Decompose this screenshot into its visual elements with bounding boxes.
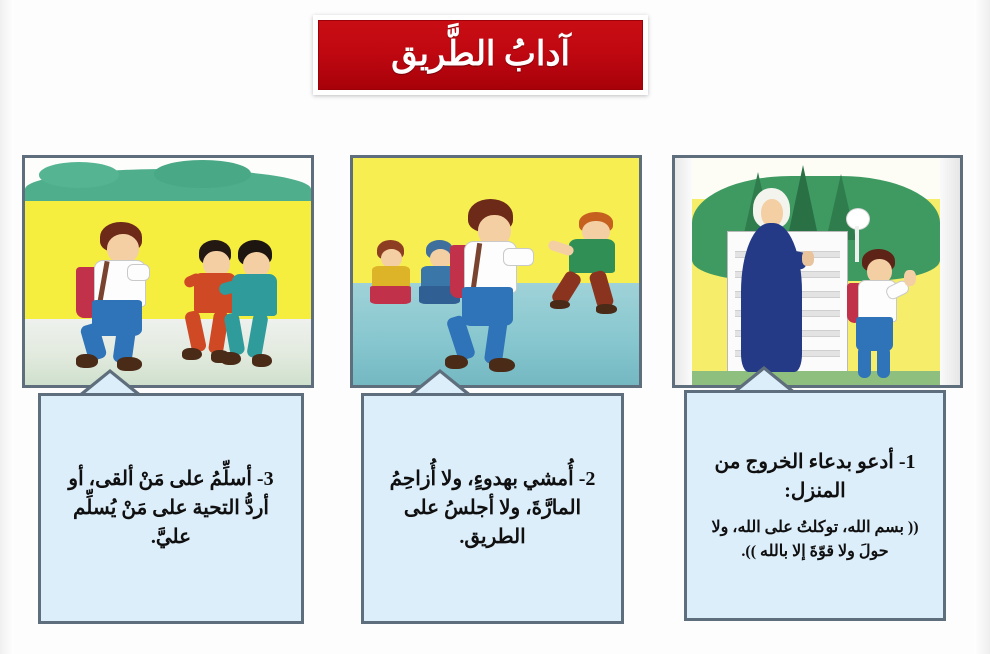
scene-greeting bbox=[25, 158, 311, 385]
panel-3-callout: 3- أسلِّمُ على مَنْ ألقى، أو أردُّ التحي… bbox=[38, 393, 304, 624]
dress bbox=[741, 223, 803, 372]
leg-right bbox=[877, 346, 890, 378]
figure-boy-teal bbox=[219, 240, 296, 372]
panel-1-image bbox=[672, 155, 963, 388]
panel-1-callout: 1- أدعو بدعاء الخروج من المنزل: (( بسم ا… bbox=[684, 390, 946, 621]
arm bbox=[127, 264, 150, 281]
scene-walking-calmly bbox=[353, 158, 639, 385]
page-edge-right bbox=[974, 0, 990, 654]
leg-back bbox=[184, 310, 207, 353]
shoe-back bbox=[76, 354, 99, 367]
figure-running-boy bbox=[545, 212, 631, 321]
shirt bbox=[569, 239, 615, 274]
panel-3-text: 3- أسلِّمُ على مَنْ ألقى، أو أردُّ التحي… bbox=[55, 465, 287, 552]
shoe-front bbox=[489, 358, 514, 372]
figure-boy-with-bag bbox=[74, 219, 177, 369]
panel-3-text-block: 3- أسلِّمُ على مَنْ ألقى، أو أردُّ التحي… bbox=[55, 465, 287, 552]
panel-2-callout: 2- أُمشي بهدوءٍ، ولا أُزاحِمُ المارَّةَ،… bbox=[361, 393, 624, 624]
page-title: آدابُ الطَّريق bbox=[391, 38, 570, 72]
scene-body bbox=[692, 158, 940, 385]
page-margin-right bbox=[940, 158, 960, 385]
leg-front bbox=[247, 312, 270, 359]
shoe-back bbox=[445, 355, 468, 369]
title-banner: آدابُ الطَّريق bbox=[313, 15, 648, 95]
panel-2-pointer bbox=[409, 369, 471, 394]
figure-walking-boy bbox=[445, 199, 542, 376]
scene-leaving-home bbox=[675, 158, 960, 385]
shirt bbox=[232, 274, 277, 316]
worksheet-page: آدابُ الطَّريق bbox=[0, 0, 990, 654]
shoe-back bbox=[221, 352, 241, 365]
figure-mother bbox=[734, 188, 813, 374]
leg-back bbox=[224, 312, 247, 356]
shoe-back bbox=[596, 304, 617, 314]
title-banner-fill: آدابُ الطَّريق bbox=[318, 20, 643, 90]
panel-1-text-block: 1- أدعو بدعاء الخروج من المنزل: (( بسم ا… bbox=[701, 448, 929, 562]
figure-boy-leaving bbox=[846, 249, 920, 381]
panel-2-image bbox=[350, 155, 642, 388]
panel-1-text: 1- أدعو بدعاء الخروج من المنزل: bbox=[701, 448, 929, 506]
hand bbox=[802, 251, 813, 266]
page-edge-left bbox=[0, 0, 14, 654]
hand bbox=[904, 270, 916, 286]
shoe-back bbox=[182, 348, 201, 361]
panel-1-pointer bbox=[733, 366, 795, 391]
arm-extended bbox=[503, 248, 534, 266]
panel-3-pointer bbox=[79, 369, 141, 394]
page-margin-left bbox=[675, 158, 692, 385]
figure-seated-child-yellow bbox=[367, 240, 416, 308]
legs bbox=[370, 286, 411, 304]
panel-1-supplication: (( بسم الله، توكلتُ على الله، ولا حولَ و… bbox=[701, 516, 929, 562]
panel-2-text-block: 2- أُمشي بهدوءٍ، ولا أُزاحِمُ المارَّةَ،… bbox=[378, 465, 607, 552]
panel-2-text: 2- أُمشي بهدوءٍ، ولا أُزاحِمُ المارَّةَ،… bbox=[378, 465, 607, 552]
shoe-front bbox=[252, 354, 272, 367]
panel-3-image bbox=[22, 155, 314, 388]
shoe-front bbox=[550, 300, 571, 310]
bushes bbox=[25, 169, 311, 203]
leg-left bbox=[858, 346, 871, 378]
